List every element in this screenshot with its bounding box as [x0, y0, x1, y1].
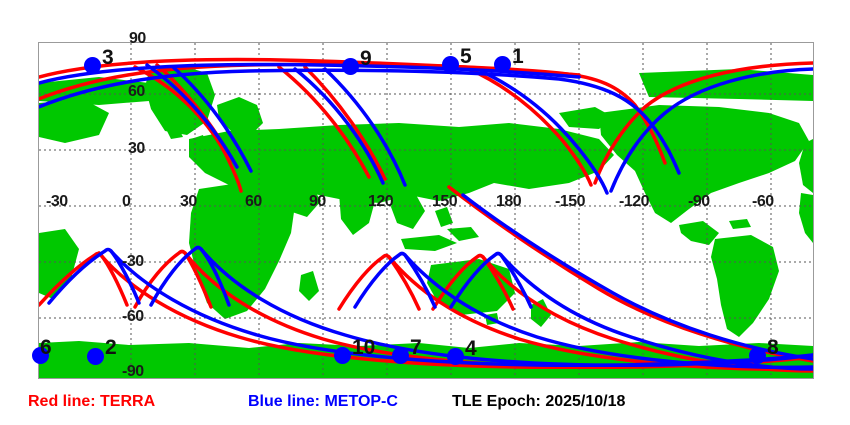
satellite-marker-5[interactable] — [442, 56, 459, 73]
satellite-marker-9[interactable] — [342, 58, 359, 75]
lon-label-30: 30 — [180, 193, 197, 211]
lat-label-60: 60 — [128, 83, 145, 101]
legend-blue-line: Blue line: METOP-C — [248, 393, 398, 411]
satellite-marker-label-10: 10 — [352, 337, 375, 358]
satellite-marker-label-4: 4 — [465, 338, 477, 359]
satellite-marker-10[interactable] — [334, 347, 351, 364]
lat-label-neg90: -90 — [122, 363, 144, 381]
lon-label-neg60: -60 — [752, 193, 774, 211]
satellite-marker-1[interactable] — [494, 56, 511, 73]
satellite-marker-3[interactable] — [84, 57, 101, 74]
lat-label-30: 30 — [128, 140, 145, 158]
satellite-marker-label-8: 8 — [767, 337, 779, 358]
lon-label-150: 150 — [432, 193, 457, 211]
satellite-marker-4[interactable] — [447, 348, 464, 365]
lat-label-90: 90 — [129, 30, 146, 48]
lon-label-neg90: -90 — [688, 193, 710, 211]
legend: Red line: TERRA Blue line: METOP-C TLE E… — [0, 393, 850, 425]
satellite-marker-8[interactable] — [749, 347, 766, 364]
lat-label-neg60: -60 — [122, 308, 144, 326]
satellite-marker-label-1: 1 — [512, 46, 524, 67]
satellite-marker-label-7: 7 — [410, 337, 422, 358]
satellite-marker-label-6: 6 — [40, 337, 52, 358]
lon-label-180: 180 — [496, 193, 521, 211]
lon-label-neg150: -150 — [555, 193, 585, 211]
satellite-marker-label-5: 5 — [460, 46, 472, 67]
lon-label-90: 90 — [309, 193, 326, 211]
satellite-marker-label-9: 9 — [360, 48, 372, 69]
lon-label-neg120: -120 — [619, 193, 649, 211]
lon-label-60: 60 — [245, 193, 262, 211]
satellite-marker-2[interactable] — [87, 348, 104, 365]
lat-label-neg30: -30 — [122, 253, 144, 271]
satellite-marker-7[interactable] — [392, 347, 409, 364]
lon-label-0: 0 — [122, 193, 130, 211]
lon-label-neg30: -30 — [46, 193, 68, 211]
legend-red-line: Red line: TERRA — [28, 393, 155, 411]
lon-label-120: 120 — [368, 193, 393, 211]
legend-tle-epoch: TLE Epoch: 2025/10/18 — [452, 393, 625, 411]
satellite-marker-label-3: 3 — [102, 47, 114, 68]
satellite-marker-label-2: 2 — [105, 337, 117, 358]
